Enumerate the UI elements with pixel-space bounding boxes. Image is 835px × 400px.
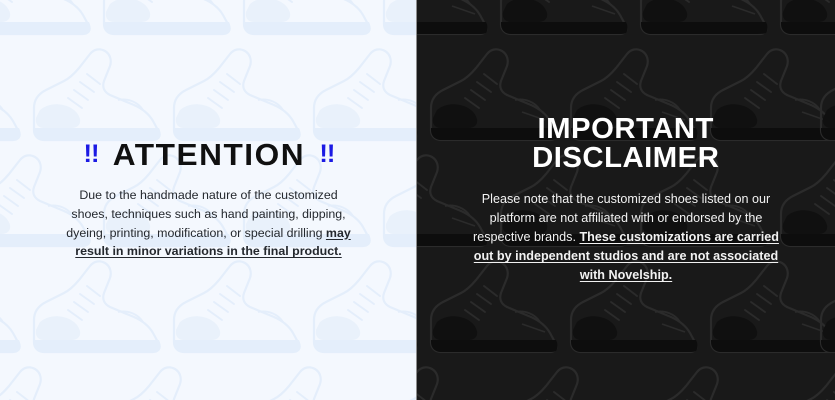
disclaimer-panel: IMPORTANT DISCLAIMER Please note that th… xyxy=(417,0,835,400)
disclaimer-body-text: Please note that the customized shoes li… xyxy=(472,190,780,286)
disclaimer-heading-line2: DISCLAIMER xyxy=(532,144,719,174)
attention-body-text: Due to the handmade nature of the custom… xyxy=(61,186,357,261)
disclaimer-banner: !! ATTENTION !! Due to the handmade natu… xyxy=(0,0,835,400)
attention-content: !! ATTENTION !! Due to the handmade natu… xyxy=(0,0,417,400)
disclaimer-heading: IMPORTANT DISCLAIMER xyxy=(532,115,719,174)
disclaimer-heading-line1: IMPORTANT xyxy=(532,115,719,145)
attention-body-normal: Due to the handmade nature of the custom… xyxy=(66,188,345,240)
disclaimer-content: IMPORTANT DISCLAIMER Please note that th… xyxy=(417,0,835,400)
attention-accent-right: !! xyxy=(319,142,334,167)
panel-divider xyxy=(416,0,417,400)
attention-heading-text: ATTENTION xyxy=(112,139,304,170)
attention-panel: !! ATTENTION !! Due to the handmade natu… xyxy=(0,0,417,400)
attention-accent-left: !! xyxy=(83,142,98,167)
attention-heading: !! ATTENTION !! xyxy=(83,139,334,170)
